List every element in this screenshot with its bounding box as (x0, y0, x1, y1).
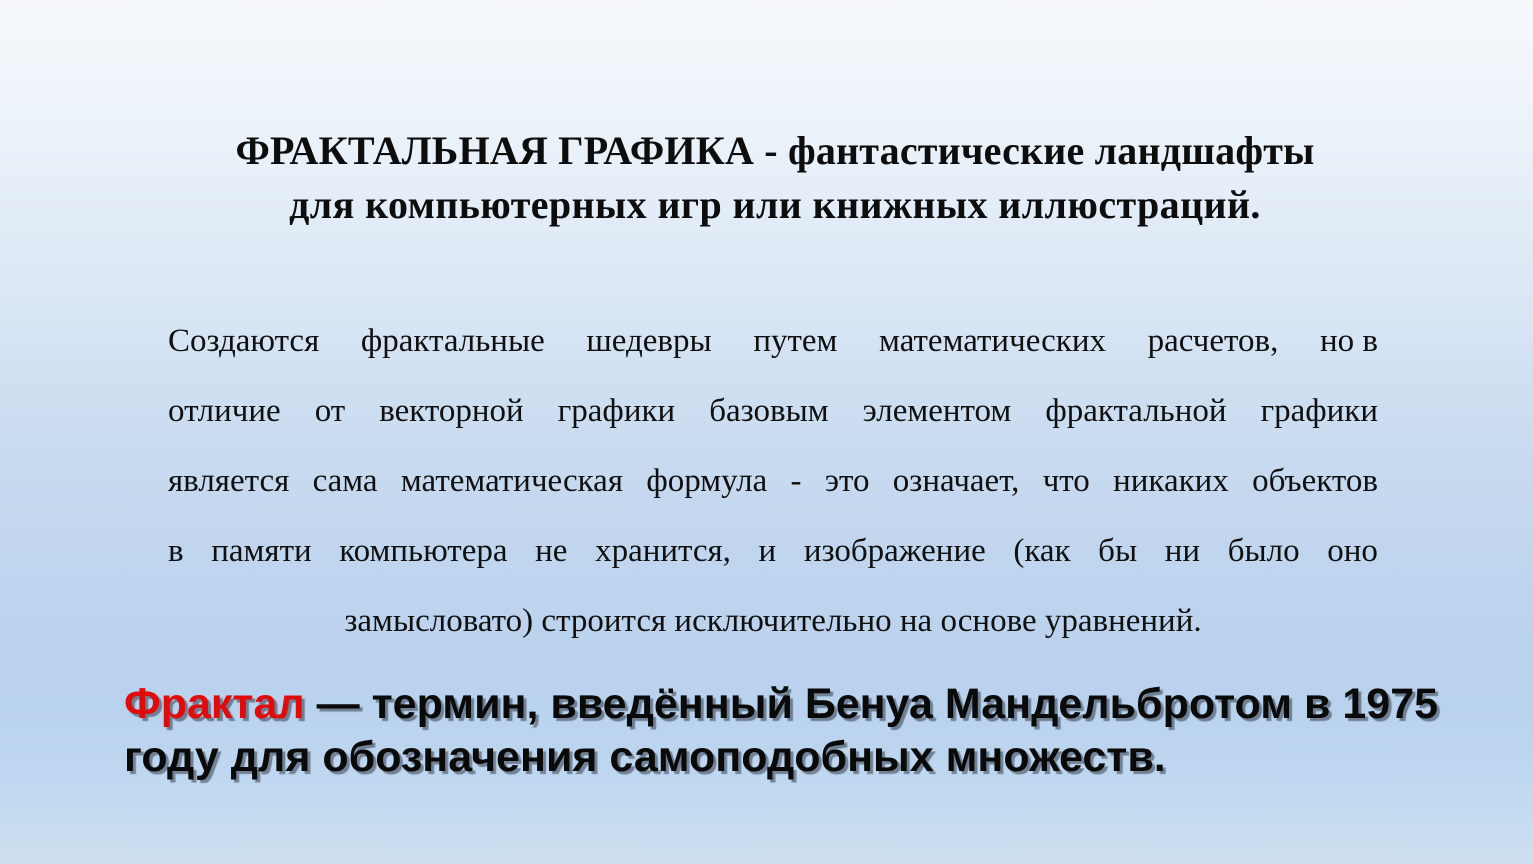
body-word: изображение (804, 516, 986, 586)
body-line-4: в памяти компьютера не хранится, и изобр… (168, 516, 1378, 586)
body-word: но в (1320, 306, 1378, 376)
body-word: компьютера (339, 516, 507, 586)
definition-line-1-rest: — термин, введённый Бенуа Мандельбротом … (305, 680, 1438, 728)
body-word: путем (753, 306, 837, 376)
body-word: элементом (863, 376, 1012, 446)
title-line-1: ФРАКТАЛЬНАЯ ГРАФИКА - фантастические лан… (150, 124, 1400, 178)
body-word: было (1228, 516, 1300, 586)
body-word: формула (646, 446, 767, 516)
body-word: что (1043, 446, 1090, 516)
body-word: (как (1013, 516, 1070, 586)
body-line-1: Создаются фрактальные шедевры путем мате… (168, 306, 1378, 376)
body-word: расчетов, (1148, 306, 1279, 376)
slide-title: ФРАКТАЛЬНАЯ ГРАФИКА - фантастические лан… (150, 124, 1400, 232)
definition-line-1: Фрактал — термин, введённый Бенуа Мандел… (124, 678, 1444, 731)
definition-line-2: году для обозначения самоподобных множес… (124, 731, 1444, 784)
definition-term: Фрактал (124, 680, 305, 728)
body-word: отличие (168, 376, 281, 446)
body-word: в (168, 516, 184, 586)
body-word: графики (558, 376, 675, 446)
body-word: сама (313, 446, 378, 516)
body-paragraph: Создаются фрактальные шедевры путем мате… (168, 306, 1378, 656)
definition-block: Фрактал — термин, введённый Бенуа Мандел… (124, 678, 1444, 784)
body-word: от (315, 376, 346, 446)
body-word: векторной (379, 376, 523, 446)
body-word: фрактальной (1045, 376, 1226, 446)
slide-canvas: ФРАКТАЛЬНАЯ ГРАФИКА - фантастические лан… (0, 0, 1533, 864)
body-word: бы (1098, 516, 1137, 586)
body-word: означает, (893, 446, 1020, 516)
body-word: математических (879, 306, 1106, 376)
body-word: и (759, 516, 777, 586)
body-word: памяти (211, 516, 311, 586)
body-line-3: является сама математическая формула - э… (168, 446, 1378, 516)
body-word: оно (1327, 516, 1378, 586)
title-line-2: для компьютерных игр или книжных иллюстр… (150, 178, 1400, 232)
body-word: графики (1261, 376, 1378, 446)
body-word: ни (1165, 516, 1200, 586)
body-word: объектов (1252, 446, 1378, 516)
body-word: фрактальные (361, 306, 545, 376)
body-word: Создаются (168, 306, 319, 376)
body-line-2: отличие от векторной графики базовым эле… (168, 376, 1378, 446)
body-line-5: замысловато) строится исключительно на о… (168, 586, 1378, 656)
body-word: не (535, 516, 567, 586)
body-word: математическая (401, 446, 623, 516)
body-word: - (791, 446, 802, 516)
body-word: является (168, 446, 289, 516)
body-word: шедевры (586, 306, 711, 376)
body-word: никаких (1113, 446, 1229, 516)
body-word: это (825, 446, 870, 516)
body-word: хранится, (595, 516, 731, 586)
body-word: базовым (709, 376, 828, 446)
